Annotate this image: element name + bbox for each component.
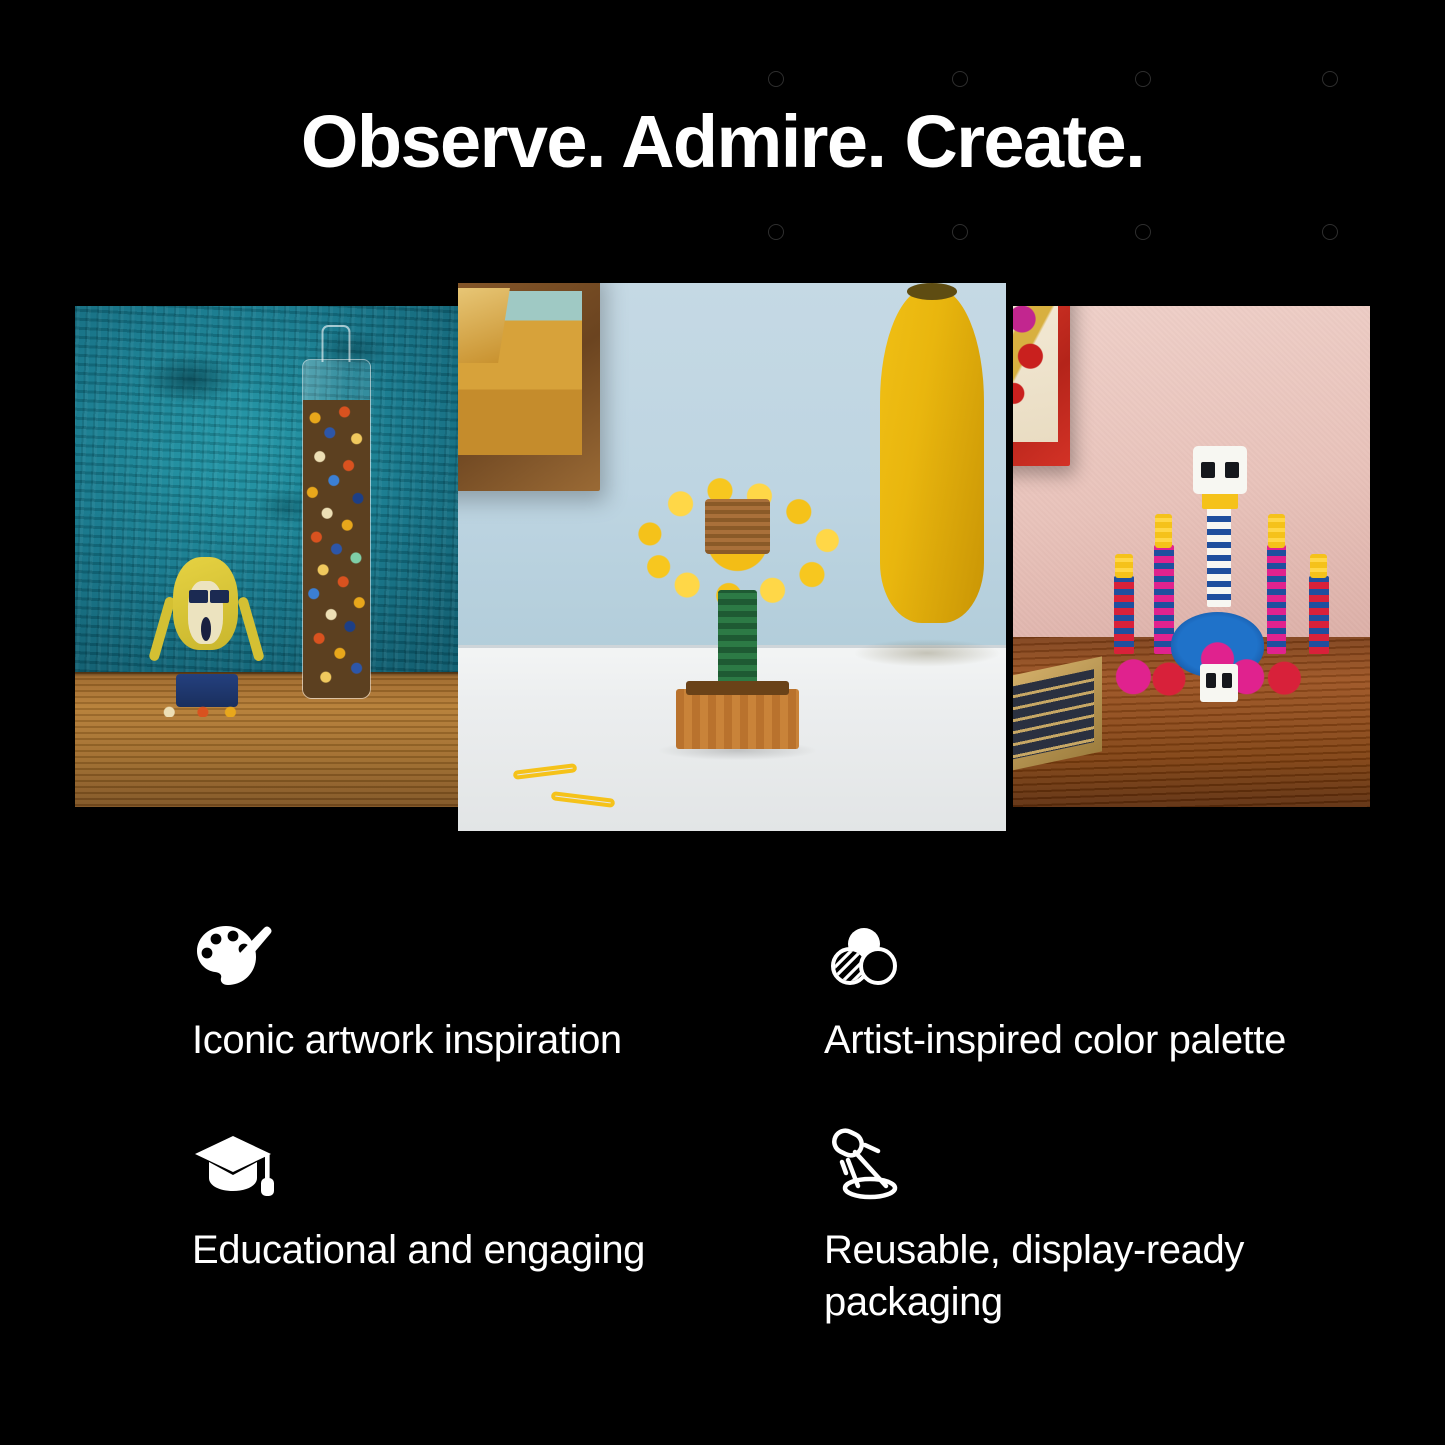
candle-flame [1310, 554, 1328, 578]
feature-item-artist-color-palette: Artist-inspired color palette [824, 916, 1294, 1066]
graduation-cap-icon [192, 1126, 662, 1202]
candle-body [1309, 576, 1329, 654]
framed-painting [458, 283, 600, 491]
yellow-vase [880, 288, 984, 622]
skull-jaw [1202, 491, 1237, 509]
figure-arm-left [148, 595, 176, 661]
candle-flame [1115, 554, 1133, 578]
spotlight-display-icon [824, 1126, 1294, 1202]
feature-label: Educational and engaging [192, 1224, 662, 1276]
skull-head [1193, 446, 1246, 494]
figure-eye-right [210, 590, 228, 604]
loose-blocks [157, 705, 258, 717]
block-sunflower-build [628, 475, 847, 749]
red-framed-floral-painting [1013, 306, 1070, 466]
feature-label: Reusable, display-ready packaging [824, 1224, 1294, 1328]
candle-build [1309, 554, 1329, 654]
candle-body [1114, 576, 1134, 654]
gallery-image-plus-plus-tube-and-scream-figure [75, 306, 459, 807]
sunflower-center [705, 499, 771, 554]
feature-item-reusable-packaging: Reusable, display-ready packaging [824, 1126, 1294, 1328]
gallery-image-day-of-the-dead-altar-build [1013, 306, 1370, 807]
teal-wall-background [75, 306, 459, 672]
candle-body [1267, 545, 1287, 654]
candle-build [1267, 514, 1287, 654]
product-image-gallery [0, 0, 1445, 860]
candle-body [1154, 545, 1174, 654]
floral-painting-artwork [1013, 306, 1058, 442]
painting-artwork [458, 291, 582, 455]
feature-list: Iconic artwork inspiration [192, 916, 1372, 1328]
figure-arm-right [237, 595, 265, 661]
candle-flame [1268, 514, 1286, 548]
figure-body [176, 674, 238, 707]
candle-build [1154, 514, 1174, 654]
block-figure-build [148, 557, 263, 707]
tube-hanging-hook [322, 325, 351, 362]
candle-build [1114, 554, 1134, 654]
tube-hook-wrapper [302, 359, 371, 700]
candle-flame [1155, 514, 1173, 548]
color-swatches-icon [824, 916, 1294, 992]
figure-eye-left [189, 590, 207, 604]
feature-label: Iconic artwork inspiration [192, 1014, 662, 1066]
wooden-table-surface [75, 672, 459, 807]
sunflower-stem [718, 590, 757, 689]
promo-card: Observe. Admire. Create. [0, 0, 1445, 1445]
figure-mouth [201, 617, 211, 641]
sunflower-pot [676, 689, 799, 749]
feature-item-iconic-artwork: Iconic artwork inspiration [192, 916, 662, 1066]
paint-palette-icon [192, 916, 662, 992]
feature-label: Artist-inspired color palette [824, 1014, 1294, 1066]
day-of-the-dead-build [1109, 446, 1330, 697]
gallery-image-block-sunflower-on-desk [458, 283, 1006, 831]
vase-shadow [853, 639, 1001, 666]
skeleton-spine [1207, 506, 1231, 606]
feature-item-educational-engaging: Educational and engaging [192, 1126, 662, 1328]
front-skull-build [1200, 664, 1238, 702]
